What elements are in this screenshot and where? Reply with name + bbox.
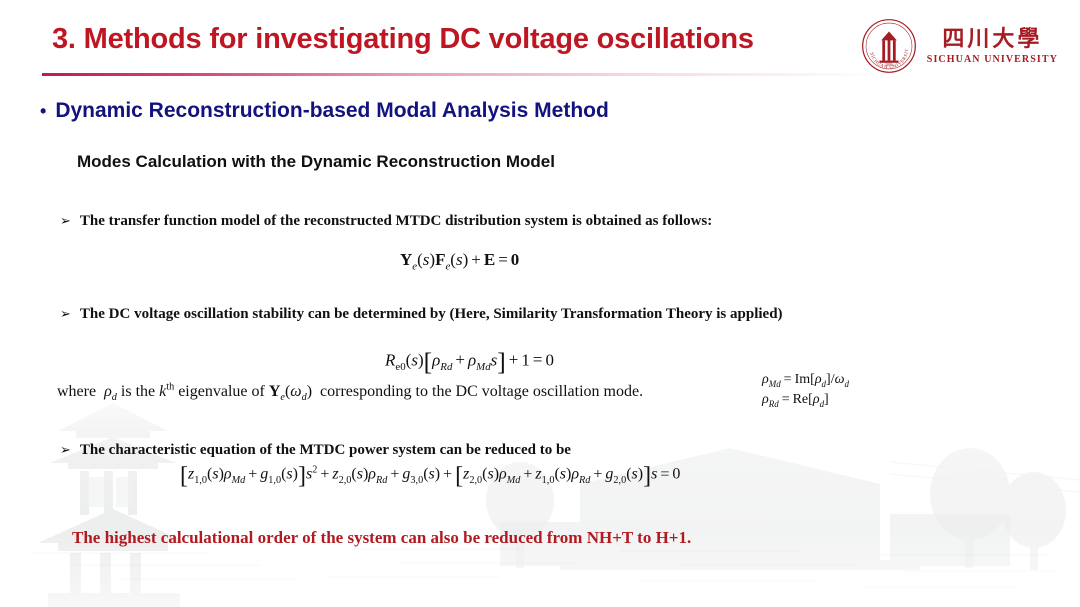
bullet-item-3: ➢ The characteristic equation of the MTD… <box>60 442 571 459</box>
section-heading: •Dynamic Reconstruction-based Modal Anal… <box>40 99 609 123</box>
arrow-bullet-icon: ➢ <box>60 307 71 322</box>
logo-wordmark: 四川大學 SICHUAN UNIVERSITY <box>927 27 1058 66</box>
rho-md-definition: ρMd=Im[ρd]/ωd <box>762 370 849 390</box>
equation-stability-criterion: Re0(s)[ρRd+ρMds]+1=0 <box>385 347 554 377</box>
conclusion-statement: The highest calculational order of the s… <box>72 528 691 548</box>
arrow-bullet-icon: ➢ <box>60 443 71 458</box>
slide-header: 3. Methods for investigating DC voltage … <box>0 0 1080 92</box>
presentation-slide: 3. Methods for investigating DC voltage … <box>0 0 1080 607</box>
section-bullet-icon: • <box>40 101 46 121</box>
rho-rd-definition: ρRd=Re[ρd] <box>762 390 849 410</box>
equation-transfer-function: Ye(s)Fe(s)+E=0 <box>400 250 519 270</box>
logo-english-name: SICHUAN UNIVERSITY <box>927 53 1058 66</box>
sichuan-university-seal-icon: 1896 SICHUAN UNIVERSITY <box>861 18 917 74</box>
bullet-text-2: The DC voltage oscillation stability can… <box>80 306 783 323</box>
arrow-bullet-icon: ➢ <box>60 214 71 229</box>
title-divider <box>42 73 887 76</box>
section-heading-text: Dynamic Reconstruction-based Modal Analy… <box>55 99 609 122</box>
page-title: 3. Methods for investigating DC voltage … <box>52 22 754 56</box>
where-part-1: is the <box>121 383 155 400</box>
where-clause: where ρd is the kth eigenvalue of Ye(ωd)… <box>57 383 643 401</box>
bullet-text-3: The characteristic equation of the MTDC … <box>80 442 571 459</box>
bullet-item-1: ➢ The transfer function model of the rec… <box>60 213 712 230</box>
bullet-item-2: ➢ The DC voltage oscillation stability c… <box>60 306 783 323</box>
where-label: where <box>57 383 96 400</box>
where-part-3: corresponding to the DC voltage oscillat… <box>320 383 643 400</box>
equation-characteristic: [z1,0(s)ρMd+g1,0(s)]s2+z2,0(s)ρRd+g3,0(s… <box>180 463 680 490</box>
sub-heading: Modes Calculation with the Dynamic Recon… <box>77 152 555 172</box>
where-part-2: eigenvalue of <box>178 383 265 400</box>
rho-definitions: ρMd=Im[ρd]/ωd ρRd=Re[ρd] <box>762 370 849 410</box>
university-logo: 1896 SICHUAN UNIVERSITY 四川大學 SICHUAN UNI… <box>861 18 1058 74</box>
logo-chinese-name: 四川大學 <box>942 27 1042 53</box>
bullet-text-1: The transfer function model of the recon… <box>80 213 712 230</box>
